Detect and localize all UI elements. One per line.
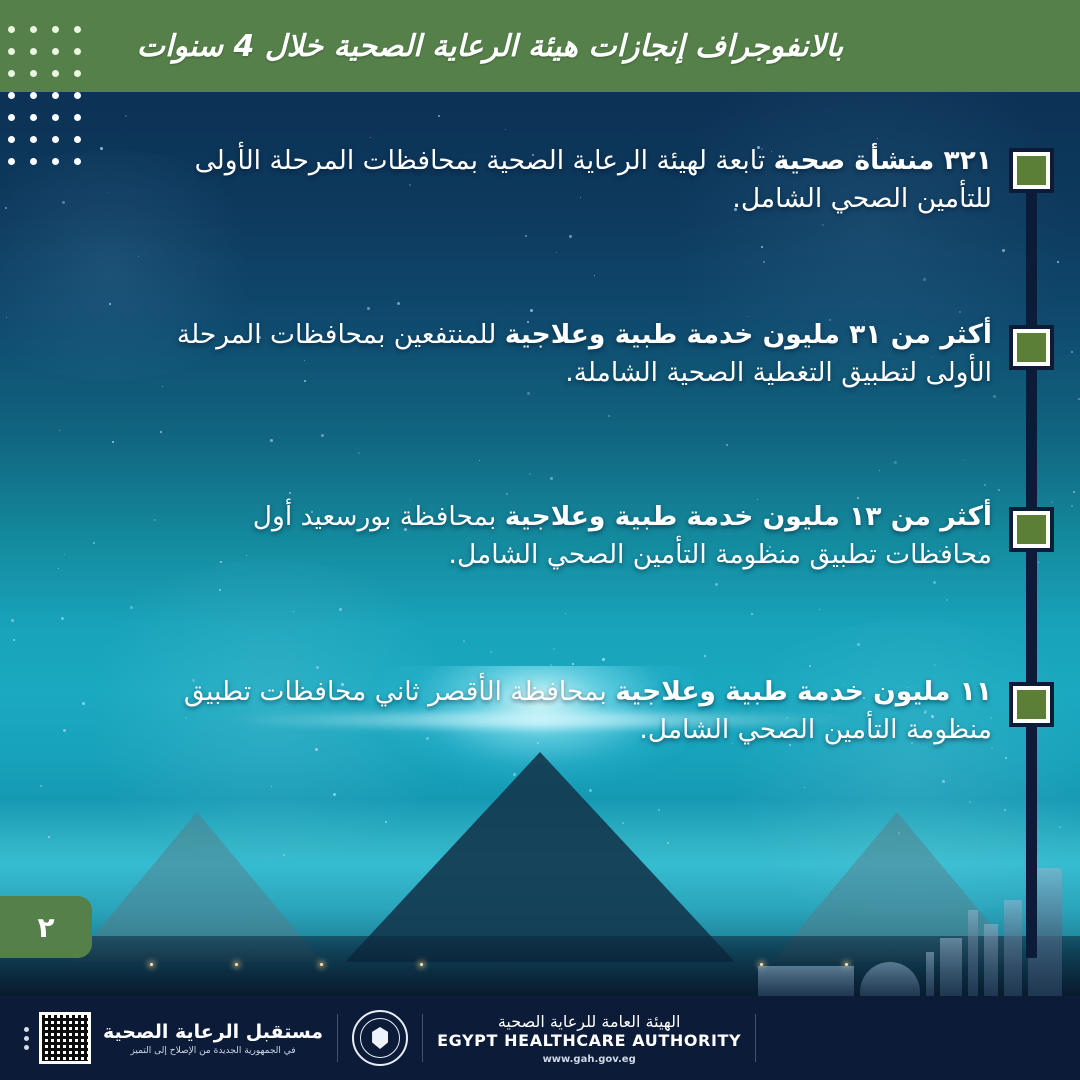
bullet-item-3: أكثر من ١٣ مليون خدمة طبية وعلاجية بمحاف… xyxy=(162,498,992,573)
grid-dot xyxy=(52,48,59,55)
star xyxy=(138,256,139,257)
node-ring xyxy=(1013,511,1050,548)
star xyxy=(61,617,64,620)
star xyxy=(125,115,127,117)
star xyxy=(933,581,936,584)
star xyxy=(565,613,566,614)
bullet-text-2: أكثر من ٣١ مليون خدمة طبية وعلاجية للمنت… xyxy=(162,316,992,391)
footer-divider xyxy=(337,1014,338,1062)
page-number-badge: ٢ xyxy=(0,896,92,958)
star xyxy=(525,235,527,237)
timeline-node-3 xyxy=(1009,507,1054,552)
brand-eha: الهيئة العامة للرعاية الصحية EGYPT HEALT… xyxy=(437,1012,741,1065)
star xyxy=(819,609,820,610)
star xyxy=(93,542,95,544)
grid-dot xyxy=(52,136,59,143)
grid-dot xyxy=(8,26,15,33)
star xyxy=(751,613,753,615)
node-ring xyxy=(1013,329,1050,366)
bullet-lead-1: ٣٢١ منشأة صحية xyxy=(774,145,992,176)
star xyxy=(602,658,605,661)
star xyxy=(569,235,572,238)
star xyxy=(761,246,763,248)
star xyxy=(479,460,480,461)
star xyxy=(321,434,324,437)
brand-mustaqbal: مستقبل الرعاية الصحية في الجمهورية الجدي… xyxy=(103,1021,323,1056)
star xyxy=(550,477,553,480)
bullet-lead-3: أكثر من ١٣ مليون خدمة طبية وعلاجية xyxy=(505,501,992,532)
skyline-block xyxy=(758,966,854,996)
node-core xyxy=(1017,333,1046,362)
grid-dot xyxy=(74,158,81,165)
star xyxy=(964,460,965,461)
header-bar: بالانفوجراف إنجازات هيئة الرعاية الصحية … xyxy=(0,0,1080,92)
node-core xyxy=(1017,690,1046,719)
star xyxy=(64,554,65,555)
grid-dot xyxy=(8,158,15,165)
grid-dot xyxy=(30,70,37,77)
grid-dot xyxy=(30,92,37,99)
star xyxy=(763,261,765,263)
dot-grid-decoration xyxy=(8,26,88,176)
star xyxy=(463,640,465,642)
grid-dot xyxy=(52,114,59,121)
timeline-node-4 xyxy=(1009,682,1054,727)
city-light xyxy=(320,963,323,966)
grid-dot xyxy=(74,136,81,143)
brand-mustaqbal-title: مستقبل الرعاية الصحية xyxy=(103,1021,323,1043)
footer-bar: مستقبل الرعاية الصحية في الجمهورية الجدي… xyxy=(0,996,1080,1080)
pyramid-center xyxy=(345,752,735,962)
seal-emblem-icon xyxy=(372,1027,388,1049)
bullet-item-1: ٣٢١ منشأة صحية تابعة لهيئة الرعاية الصحي… xyxy=(162,142,992,217)
star xyxy=(556,252,557,253)
page-title: بالانفوجراف إنجازات هيئة الرعاية الصحية … xyxy=(0,29,1050,64)
bullet-text-1: ٣٢١ منشأة صحية تابعة لهيئة الرعاية الصحي… xyxy=(162,142,992,217)
star xyxy=(715,583,718,586)
grid-dot xyxy=(52,70,59,77)
bullet-text-4: ١١ مليون خدمة طبية وعلاجية بمحافظة الأقص… xyxy=(162,673,992,748)
star xyxy=(726,444,728,446)
grid-dot xyxy=(30,158,37,165)
star xyxy=(506,493,508,495)
grid-dot xyxy=(52,92,59,99)
title-suffix: خلال 4 سنوات xyxy=(137,29,334,64)
star xyxy=(58,568,59,569)
node-core xyxy=(1017,515,1046,544)
star xyxy=(594,275,595,276)
bullet-text-3: أكثر من ١٣ مليون خدمة طبية وعلاجية بمحاف… xyxy=(162,498,992,573)
infographic-canvas: منذ ٤ سنوات إلى اليوم بالانفوجراف إنجازا… xyxy=(0,0,1080,1080)
qr-code-icon[interactable] xyxy=(39,1012,91,1064)
title-prefix: بالانفوجراف إنجازات xyxy=(578,29,843,64)
grid-dot xyxy=(30,48,37,55)
brand-mustaqbal-tagline: في الجمهورية الجديدة من الإصلاح إلى التم… xyxy=(103,1046,323,1056)
node-core xyxy=(1017,156,1046,185)
star xyxy=(59,430,60,431)
skyline-dome xyxy=(860,962,920,996)
star xyxy=(112,441,114,443)
timeline-node-1 xyxy=(1009,148,1054,193)
city-light xyxy=(420,963,423,966)
star xyxy=(293,611,294,612)
star xyxy=(822,224,824,226)
grid-dot xyxy=(52,158,59,165)
star xyxy=(219,589,221,591)
footer-dots-icon xyxy=(24,1027,29,1050)
star xyxy=(109,303,111,305)
grid-dot xyxy=(52,26,59,33)
star xyxy=(529,473,531,475)
star xyxy=(572,663,574,665)
grid-dot xyxy=(8,70,15,77)
grid-dot xyxy=(8,136,15,143)
bullet-item-2: أكثر من ٣١ مليون خدمة طبية وعلاجية للمنت… xyxy=(162,316,992,391)
star xyxy=(1002,249,1005,252)
node-ring xyxy=(1013,686,1050,723)
timeline-node-2 xyxy=(1009,325,1054,370)
star xyxy=(527,392,530,395)
grid-dot xyxy=(30,114,37,121)
eha-arabic-name: الهيئة العامة للرعاية الصحية xyxy=(437,1012,741,1031)
grid-dot xyxy=(74,48,81,55)
star xyxy=(1071,505,1073,507)
star xyxy=(959,311,961,313)
city-light xyxy=(150,963,153,966)
star xyxy=(370,137,371,138)
grid-dot xyxy=(8,114,15,121)
star xyxy=(704,655,706,657)
star xyxy=(5,207,7,209)
star xyxy=(438,115,440,117)
star xyxy=(857,643,860,646)
star xyxy=(879,470,880,471)
star xyxy=(530,309,533,312)
skyline-tower xyxy=(984,924,998,996)
star xyxy=(358,452,360,454)
page-number: ٢ xyxy=(37,911,54,944)
star xyxy=(923,278,926,281)
star xyxy=(877,138,878,139)
eha-website[interactable]: www.gah.gov.eg xyxy=(437,1054,741,1065)
star xyxy=(894,461,897,464)
star xyxy=(154,519,156,521)
star xyxy=(984,484,986,486)
star xyxy=(100,147,103,150)
bullet-lead-2: أكثر من ٣١ مليون خدمة طبية وعلاجية xyxy=(505,319,992,350)
eha-english-name: EGYPT HEALTHCARE AUTHORITY xyxy=(437,1031,741,1050)
star xyxy=(608,415,610,417)
star xyxy=(107,192,108,193)
bullet-lead-4: ١١ مليون خدمة طبية وعلاجية xyxy=(615,676,992,707)
star xyxy=(11,619,14,622)
star xyxy=(367,307,370,310)
footer-divider xyxy=(755,1014,756,1062)
grid-dot xyxy=(8,92,15,99)
star xyxy=(1051,501,1053,503)
star xyxy=(553,648,555,650)
eha-seal-logo xyxy=(352,1010,408,1066)
city-light xyxy=(235,963,238,966)
star xyxy=(946,599,948,601)
star xyxy=(993,395,996,398)
star xyxy=(62,201,65,204)
title-bold: هيئة الرعاية الصحية xyxy=(334,29,578,64)
star xyxy=(270,439,273,442)
star xyxy=(6,317,7,318)
star xyxy=(490,651,492,653)
star xyxy=(505,129,506,130)
star xyxy=(160,431,162,433)
star xyxy=(289,492,291,494)
grid-dot xyxy=(30,26,37,33)
timeline-connector xyxy=(1026,168,1037,958)
star xyxy=(397,302,400,305)
star xyxy=(339,608,342,611)
skyline-tower xyxy=(940,938,962,996)
star xyxy=(13,639,15,641)
skyline-tower xyxy=(968,910,978,996)
grid-dot xyxy=(74,26,81,33)
grid-dot xyxy=(8,48,15,55)
footer-divider xyxy=(422,1014,423,1062)
grid-dot xyxy=(74,70,81,77)
grid-dot xyxy=(74,92,81,99)
star xyxy=(1071,351,1073,353)
star xyxy=(130,606,133,609)
star xyxy=(1038,562,1039,563)
skyline-tower xyxy=(926,952,934,996)
star xyxy=(1057,261,1059,263)
node-ring xyxy=(1013,152,1050,189)
star xyxy=(1073,491,1075,493)
grid-dot xyxy=(74,114,81,121)
skyline-tower xyxy=(1004,900,1022,996)
grid-dot xyxy=(30,136,37,143)
star xyxy=(998,489,1000,491)
bullet-item-4: ١١ مليون خدمة طبية وعلاجية بمحافظة الأقص… xyxy=(162,673,992,748)
